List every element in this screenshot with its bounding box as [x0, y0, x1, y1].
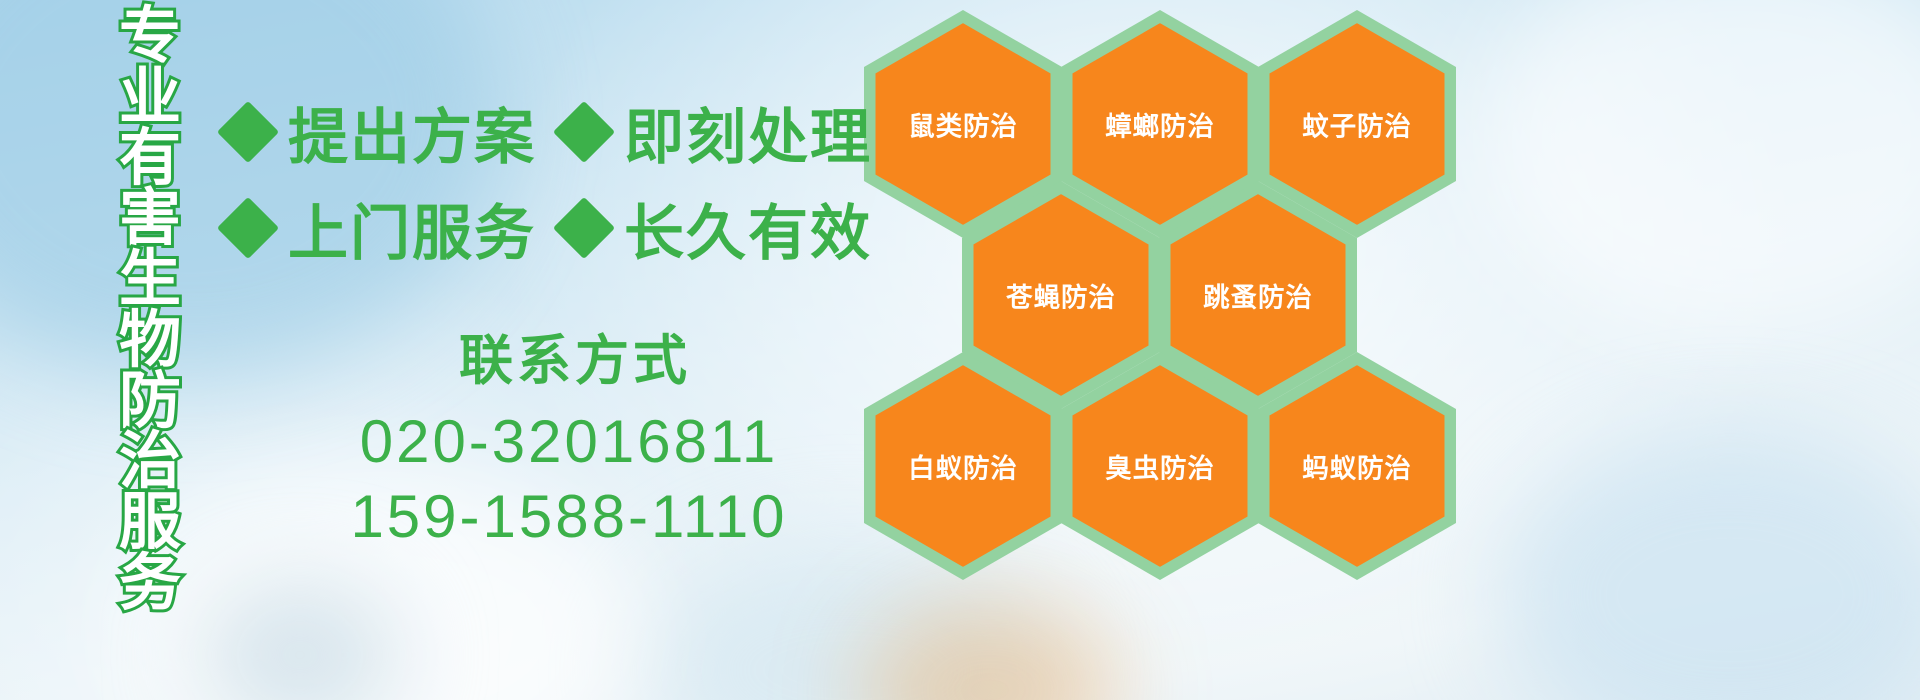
- vertical-headline-char: 务: [119, 553, 181, 614]
- vertical-headline-char: 物: [119, 310, 181, 371]
- background-blob: [1480, 0, 1920, 340]
- contact-phone-mobile[interactable]: 159-1588-1110: [318, 482, 820, 551]
- service-label: 鼠类防治: [908, 105, 1018, 144]
- feature-bullet-label: 即刻处理: [624, 89, 872, 176]
- service-honeycomb: 鼠类防治 蟑螂防治 蚊子防治 苍蝇防治 跳蚤防治: [858, 0, 1478, 700]
- diamond-bullet-icon: [217, 101, 279, 163]
- diamond-bullet-icon: [553, 197, 615, 259]
- vertical-headline-char: 服: [119, 492, 181, 553]
- feature-bullet-label: 上门服务: [288, 185, 536, 272]
- service-label: 臭虫防治: [1105, 447, 1215, 486]
- feature-bullet-label: 长久有效: [624, 185, 872, 272]
- service-label: 白蚁防治: [908, 447, 1018, 486]
- feature-bullet-row: 上门服务 长久有效: [226, 180, 866, 276]
- service-label: 跳蚤防治: [1203, 276, 1313, 315]
- vertical-headline-char: 防: [119, 371, 181, 432]
- background-blob: [200, 580, 400, 700]
- contact-title: 联系方式: [330, 316, 820, 395]
- vertical-headline-char: 业: [119, 67, 181, 128]
- feature-bullet: 上门服务: [226, 185, 536, 272]
- diamond-bullet-icon: [217, 197, 279, 259]
- feature-bullet: 即刻处理: [562, 89, 872, 176]
- contact-block: 联系方式 020-32016811 159-1588-1110: [300, 316, 820, 551]
- service-hex-termite[interactable]: 白蚁防治: [864, 352, 1062, 580]
- service-hex-ant[interactable]: 蚂蚁防治: [1258, 352, 1456, 580]
- vertical-headline-char: 有: [119, 128, 181, 189]
- feature-bullet-label: 提出方案: [288, 89, 536, 176]
- vertical-headline-char: 害: [119, 188, 181, 249]
- feature-bullet-row: 提出方案 即刻处理: [226, 84, 866, 180]
- diamond-bullet-icon: [553, 101, 615, 163]
- service-label: 蟑螂防治: [1105, 105, 1215, 144]
- promo-banner: 专 业 有 害 生 物 防 治 服 务 提出方案 即刻处理 上门服务: [0, 0, 1920, 700]
- vertical-headline: 专 业 有 害 生 物 防 治 服 务: [104, 6, 196, 558]
- background-blob: [1500, 430, 1920, 700]
- vertical-headline-char: 治: [119, 431, 181, 492]
- feature-bullet: 长久有效: [562, 185, 872, 272]
- contact-phone-landline[interactable]: 020-32016811: [318, 407, 820, 476]
- service-label: 蚊子防治: [1302, 105, 1412, 144]
- service-hex-bedbug[interactable]: 臭虫防治: [1061, 352, 1259, 580]
- vertical-headline-char: 生: [119, 249, 181, 310]
- feature-bullets: 提出方案 即刻处理 上门服务 长久有效: [226, 84, 866, 276]
- vertical-headline-char: 专: [119, 6, 181, 67]
- service-label: 蚂蚁防治: [1302, 447, 1412, 486]
- feature-bullet: 提出方案: [226, 89, 536, 176]
- service-label: 苍蝇防治: [1006, 276, 1116, 315]
